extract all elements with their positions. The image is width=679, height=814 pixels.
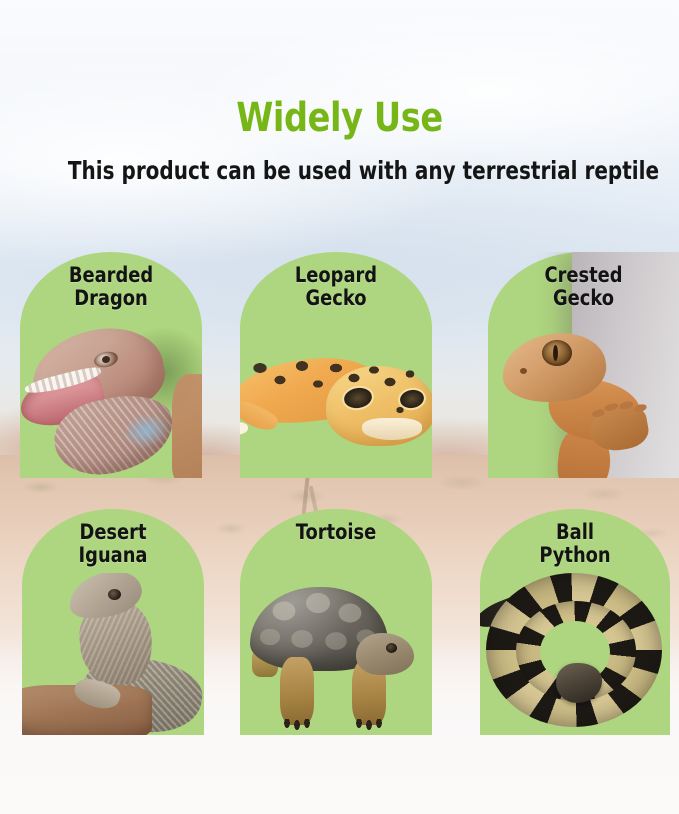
leopard-gecko-photo: [240, 334, 432, 478]
card-label-desert-iguana: Desert Iguana: [36, 521, 191, 567]
crested-gecko-eye: [542, 340, 572, 366]
tortoise-head: [356, 633, 414, 675]
card-bearded-dragon[interactable]: Bearded Dragon: [20, 252, 202, 478]
tortoise-photo: [248, 587, 432, 735]
card-label-crested-gecko: Crested Gecko: [502, 264, 664, 310]
crested-gecko-nostril: [520, 368, 527, 374]
card-ball-python[interactable]: Ball Python: [480, 509, 670, 735]
card-label-leopard-gecko: Leopard Gecko: [254, 264, 417, 310]
tortoise-claws-right: [354, 719, 386, 731]
crested-gecko-photo: [496, 324, 676, 478]
tortoise-eye: [386, 643, 397, 653]
photo-rock: [172, 374, 202, 478]
page-subtitle: This product can be used with any terres…: [68, 156, 611, 186]
tortoise-claws-left: [282, 719, 314, 731]
widely-use-poster: Widely Use This product can be used with…: [0, 0, 679, 814]
card-label-tortoise: Tortoise: [254, 521, 417, 544]
ball-python-photo: [480, 567, 670, 735]
card-label-bearded-dragon: Bearded Dragon: [34, 264, 189, 310]
card-label-ball-python: Ball Python: [494, 521, 656, 567]
card-tortoise[interactable]: Tortoise: [240, 509, 432, 735]
bearded-dragon-photo: [20, 322, 202, 478]
page-title: Widely Use: [54, 96, 624, 140]
card-leopard-gecko[interactable]: Leopard Gecko: [240, 252, 432, 478]
card-desert-iguana[interactable]: Desert Iguana: [22, 509, 204, 735]
iguana-eye: [108, 589, 121, 600]
tortoise-front-leg-left: [280, 657, 314, 725]
desert-iguana-photo: [22, 573, 204, 735]
card-crested-gecko[interactable]: Crested Gecko: [488, 252, 679, 478]
poster-headings: Widely Use This product can be used with…: [0, 96, 679, 186]
